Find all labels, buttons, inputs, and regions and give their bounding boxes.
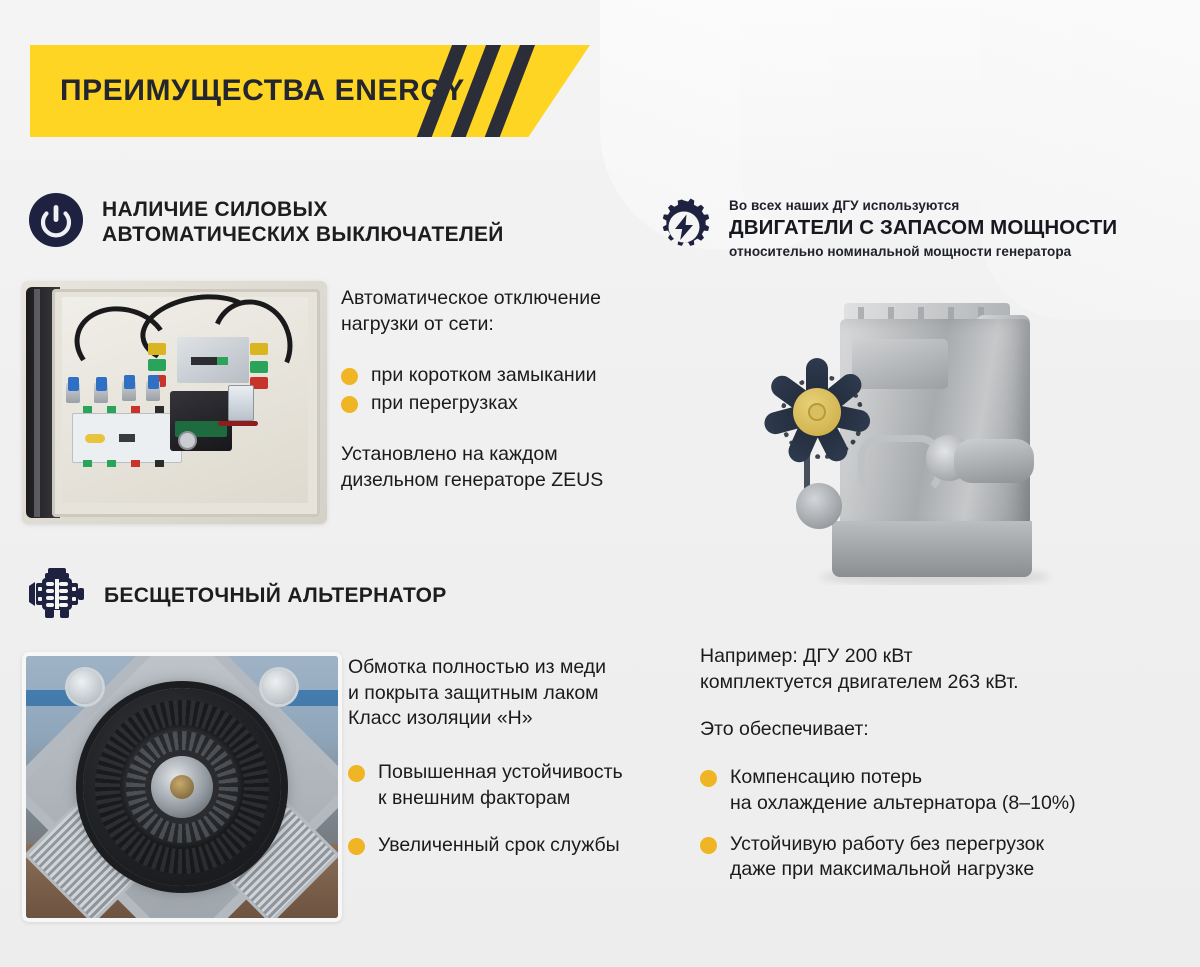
brushless-alternator-photo bbox=[22, 652, 342, 922]
bullet-dot-icon bbox=[341, 368, 358, 385]
section-engine: Во всех наших ДГУ используются ДВИГАТЕЛИ… bbox=[655, 198, 1195, 261]
page-title: ПРЕИМУЩЕСТВА ENERGY bbox=[60, 74, 465, 108]
lead-line-1: Обмотка полностью из меди bbox=[348, 655, 678, 681]
bullet-text-line-2: даже при максимальной нагрузке bbox=[730, 857, 1044, 882]
footer-line-2: дизельном генераторе ZEUS bbox=[341, 468, 681, 494]
lead-line-2: и покрыта защитным лаком bbox=[348, 681, 678, 707]
list-item: при коротком замыкании bbox=[341, 363, 681, 388]
bullet-dot-icon bbox=[341, 396, 358, 413]
bullet-list-engine: Компенсацию потерь на охлаждение альтерн… bbox=[700, 765, 1190, 882]
section-breakers: НАЛИЧИЕ СИЛОВЫХ АВТОМАТИЧЕСКИХ ВЫКЛЮЧАТЕ… bbox=[28, 192, 628, 253]
heading-line-2: АВТОМАТИЧЕСКИХ ВЫКЛЮЧАТЕЛЕЙ bbox=[102, 223, 504, 248]
copy-engine: Например: ДГУ 200 кВт комплектуется двиг… bbox=[700, 644, 1190, 899]
bullet-dot-icon bbox=[348, 765, 365, 782]
section-heading-breakers: НАЛИЧИЕ СИЛОВЫХ АВТОМАТИЧЕСКИХ ВЫКЛЮЧАТЕ… bbox=[102, 198, 504, 248]
bullet-dot-icon bbox=[700, 770, 717, 787]
lead-line-1: Автоматическое отключение bbox=[341, 286, 681, 312]
engine-lead-2: Это обеспечивает: bbox=[700, 717, 1190, 743]
bullet-text-line-1: Повышенная устойчивость bbox=[378, 760, 623, 785]
section-heading-engine: ДВИГАТЕЛИ С ЗАПАСОМ МОЩНОСТИ bbox=[729, 216, 1117, 241]
diesel-engine-photo bbox=[740, 285, 1160, 585]
lead-line-2: нагрузки от сети: bbox=[341, 312, 681, 338]
bullet-text: при коротком замыкании bbox=[371, 363, 597, 388]
bullet-dot-icon bbox=[700, 837, 717, 854]
heading-line-1: НАЛИЧИЕ СИЛОВЫХ bbox=[102, 198, 504, 223]
lead-line-1: Например: ДГУ 200 кВт bbox=[700, 644, 1190, 670]
bullet-list-alternator: Повышенная устойчивость к внешним фактор… bbox=[348, 760, 678, 858]
copy-alternator: Обмотка полностью из меди и покрыта защи… bbox=[348, 655, 678, 880]
copy-breakers: Автоматическое отключение нагрузки от се… bbox=[341, 286, 681, 494]
lead-line-3: Класс изоляции «Н» bbox=[348, 706, 678, 732]
power-button-icon bbox=[28, 192, 84, 253]
electrical-cabinet-photo bbox=[22, 281, 327, 524]
bullet-text-line-1: Устойчивую работу без перегрузок bbox=[730, 832, 1044, 857]
bullet-text-line-1: Увеличенный срок службы bbox=[378, 833, 620, 858]
list-item: Устойчивую работу без перегрузок даже пр… bbox=[700, 832, 1190, 883]
bullet-text-line-2: на охлаждение альтернатора (8–10%) bbox=[730, 791, 1076, 816]
bullet-dot-icon bbox=[348, 838, 365, 855]
list-item: Компенсацию потерь на охлаждение альтерн… bbox=[700, 765, 1190, 816]
header-banner: ПРЕИМУЩЕСТВА ENERGY bbox=[30, 45, 590, 137]
section-alternator: БЕСЩЕТОЧНЫЙ АЛЬТЕРНАТОР bbox=[28, 566, 588, 627]
engine-kicker: Во всех наших ДГУ используются bbox=[729, 198, 1117, 215]
list-item: Повышенная устойчивость к внешним фактор… bbox=[348, 760, 678, 811]
gear-bolt-icon bbox=[655, 198, 713, 261]
alternator-icon bbox=[28, 566, 86, 627]
background-watermark-shape bbox=[980, 0, 1200, 320]
section-heading-alternator: БЕСЩЕТОЧНЫЙ АЛЬТЕРНАТОР bbox=[104, 584, 447, 609]
list-item: Увеличенный срок службы bbox=[348, 833, 678, 858]
list-item: при перегрузках bbox=[341, 391, 681, 416]
bullet-text: при перегрузках bbox=[371, 391, 518, 416]
bullet-text-line-1: Компенсацию потерь bbox=[730, 765, 1076, 790]
footer-line-1: Установлено на каждом bbox=[341, 442, 681, 468]
bullet-list-breakers: при коротком замыкании при перегрузках bbox=[341, 363, 681, 416]
lead-line-2: комплектуется двигателем 263 кВт. bbox=[700, 670, 1190, 696]
bullet-text-line-2: к внешним факторам bbox=[378, 786, 623, 811]
engine-subheading: относительно номинальной мощности генера… bbox=[729, 243, 1117, 261]
banner-stripes bbox=[424, 45, 544, 137]
